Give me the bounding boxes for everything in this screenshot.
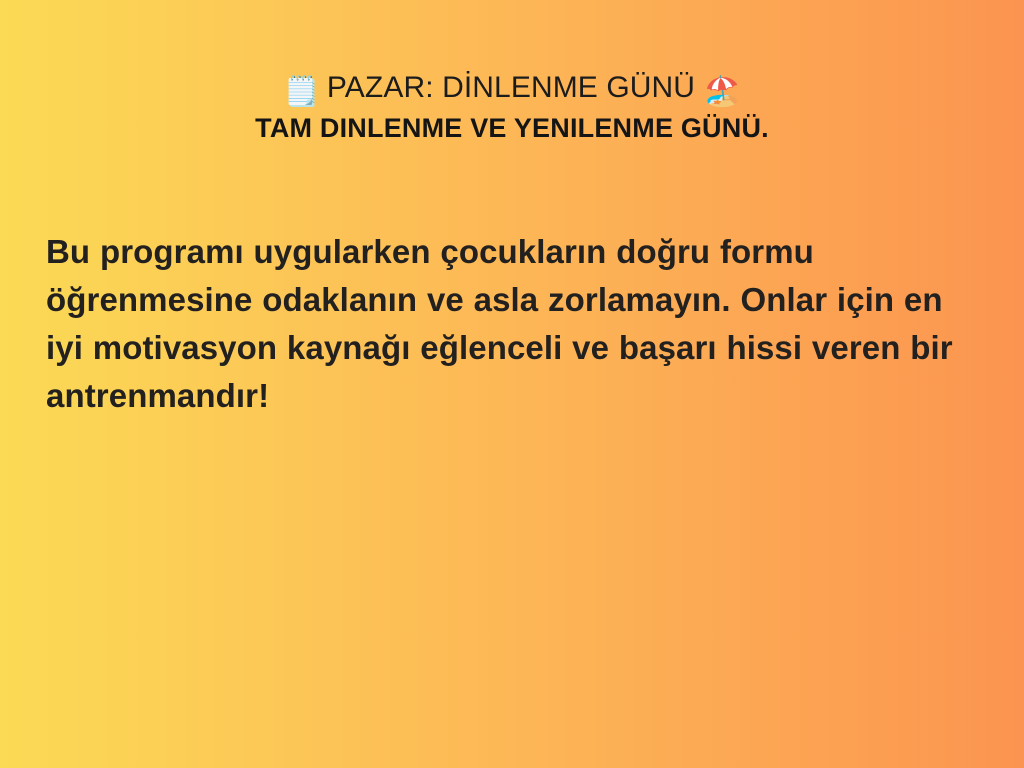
- title-line-secondary: TAM DINLENME VE YENILENME GÜNÜ.: [0, 110, 1024, 146]
- body-block: Bu programı uygularken çocukların doğru …: [46, 228, 976, 420]
- spiral-notepad-icon: 🗒️: [284, 74, 320, 108]
- beach-with-umbrella-icon: 🏖️: [704, 74, 740, 108]
- heading-block: 🗒️PAZAR: DİNLENME GÜNÜ🏖️ TAM DINLENME VE…: [0, 68, 1024, 146]
- title-line-primary: 🗒️PAZAR: DİNLENME GÜNÜ🏖️: [0, 68, 1024, 108]
- body-paragraph: Bu programı uygularken çocukların doğru …: [46, 228, 976, 420]
- title-line-primary-text: PAZAR: DİNLENME GÜNÜ: [327, 71, 695, 104]
- slide-canvas: 🗒️PAZAR: DİNLENME GÜNÜ🏖️ TAM DINLENME VE…: [0, 0, 1024, 768]
